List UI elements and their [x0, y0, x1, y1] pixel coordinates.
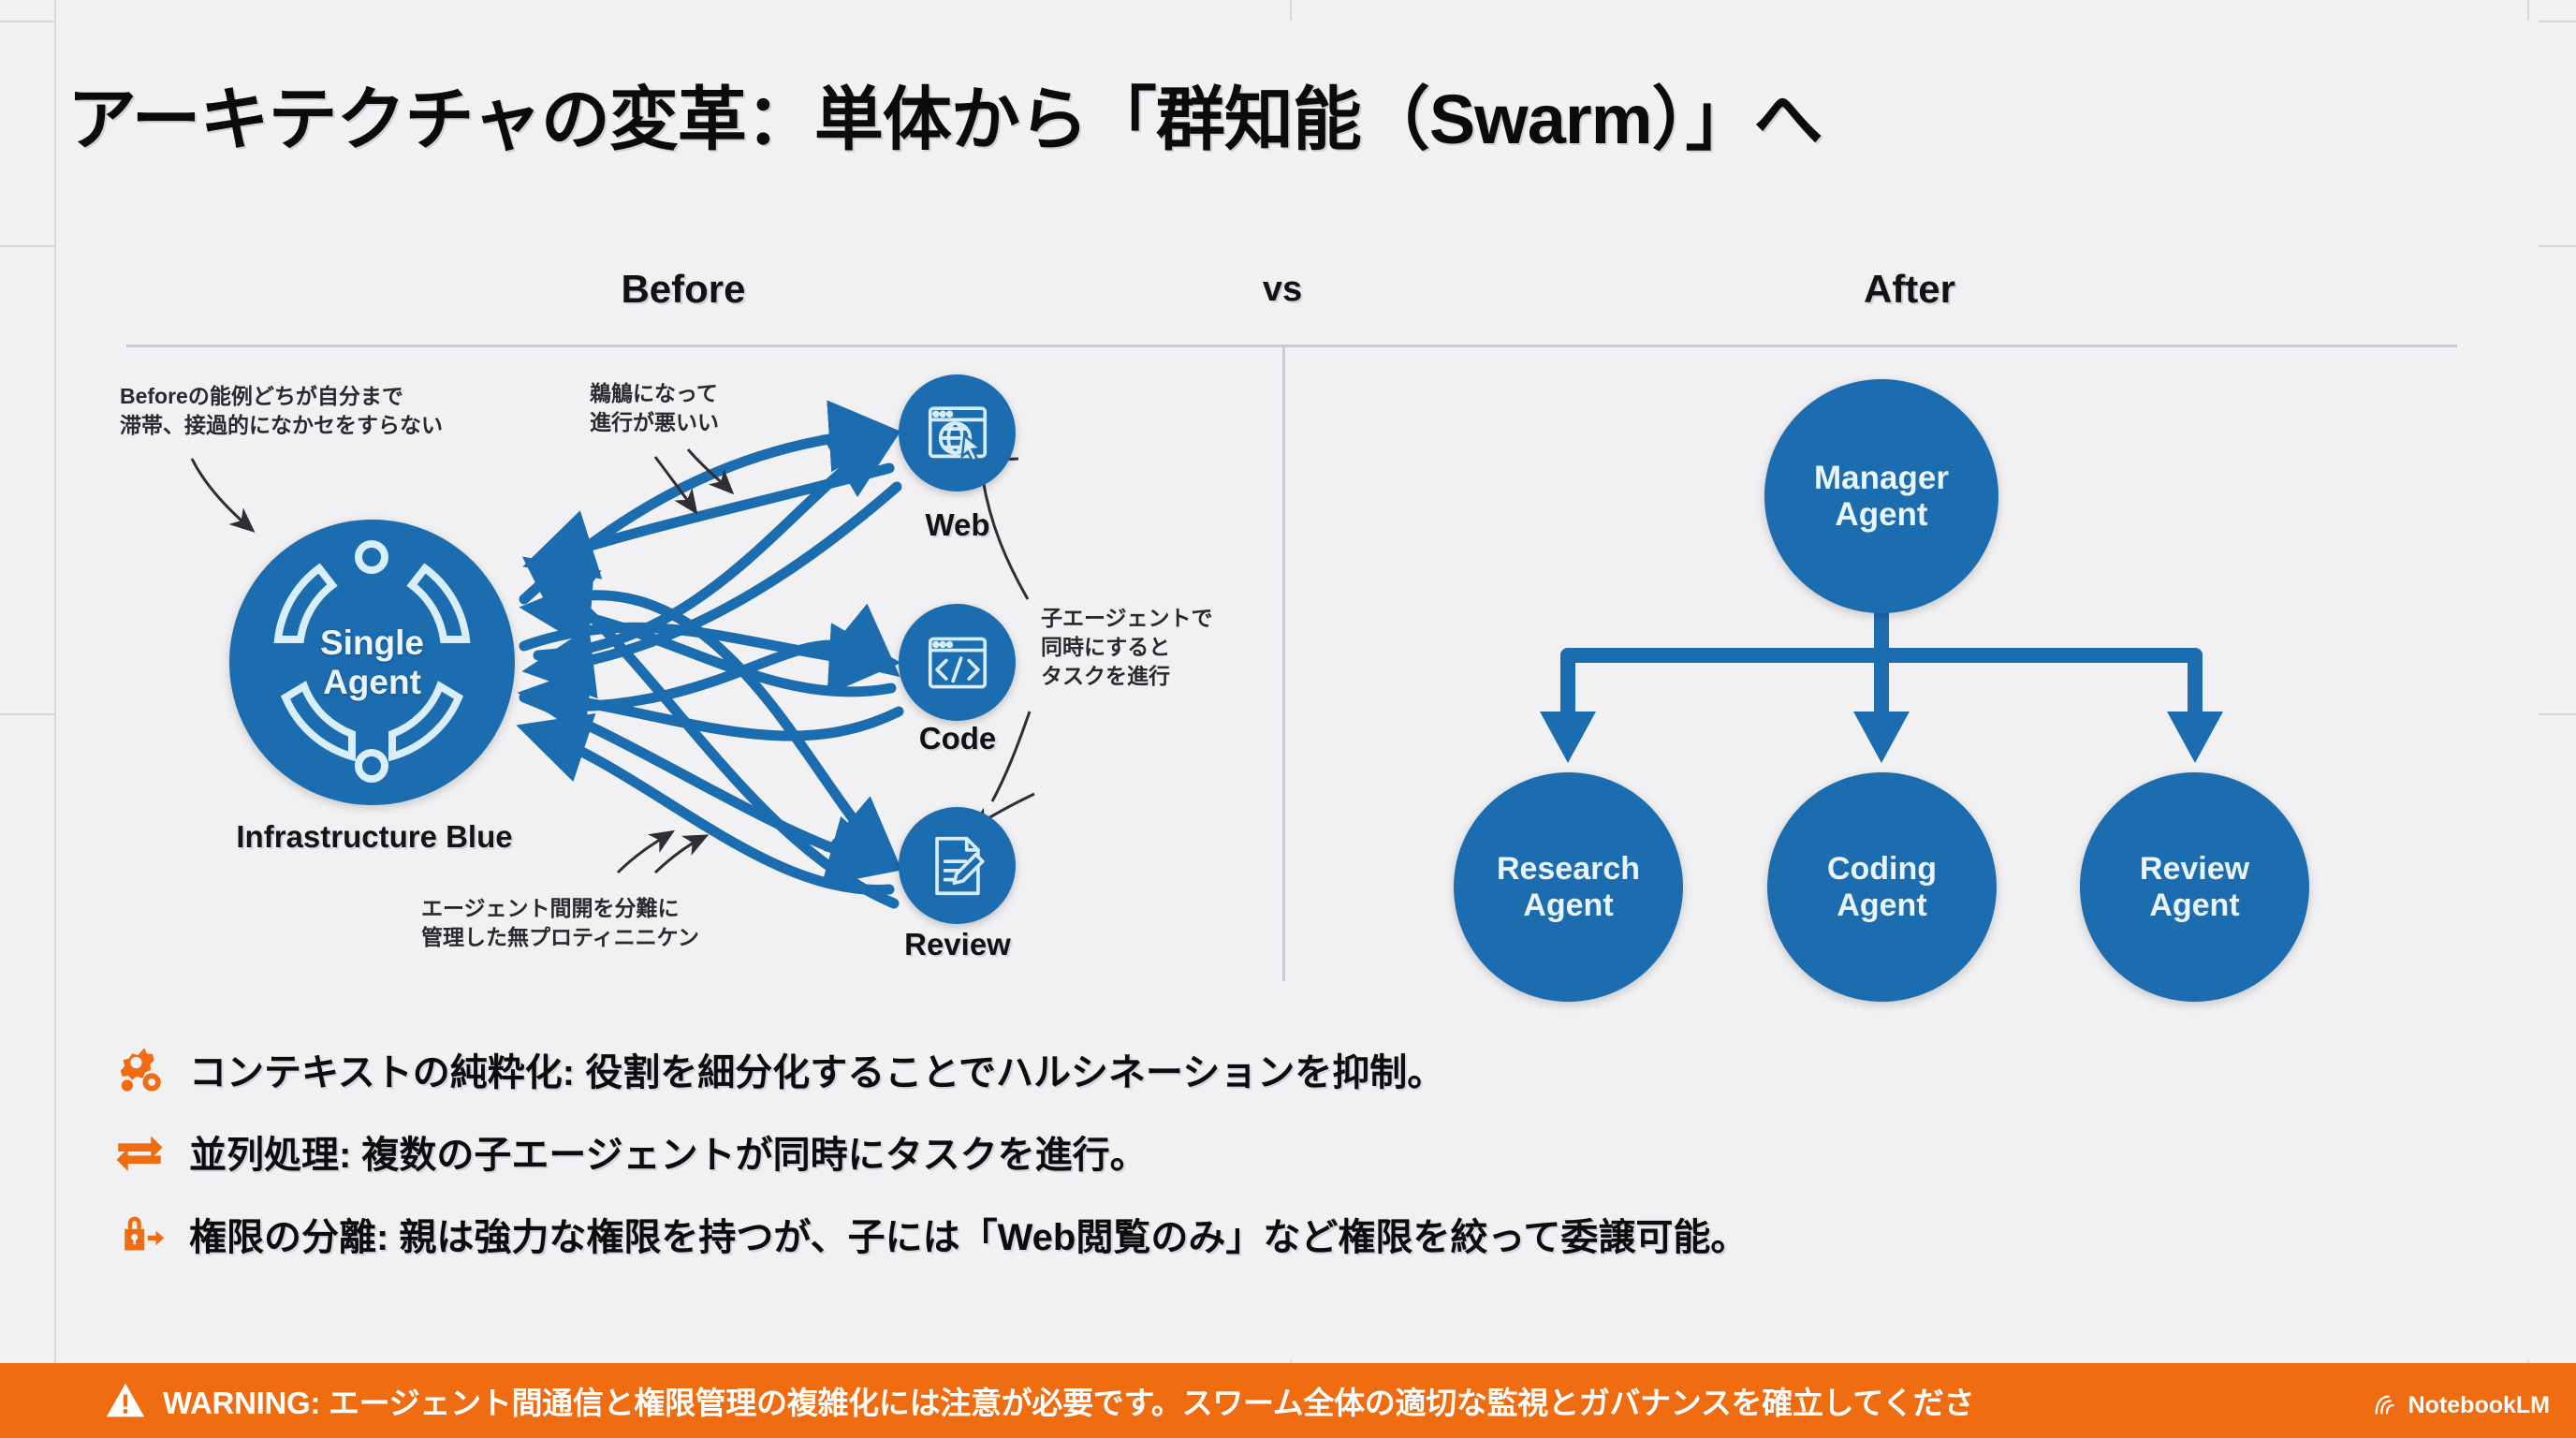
node-single-agent-line1: Single: [320, 624, 424, 662]
column-header-before: Before: [524, 267, 842, 312]
node-web[interactable]: [899, 374, 1016, 492]
code-window-icon: [921, 626, 994, 699]
node-coding-agent[interactable]: Coding Agent: [1767, 772, 1997, 1002]
list-item-text: 並列処理: 複数の子エージェントが同時にタスクを進行。: [189, 1124, 1148, 1179]
infrastructure-blue-label: Infrastructure Blue: [164, 819, 585, 855]
column-header-vs: vs: [1207, 270, 1357, 310]
page-title: アーキテクチャの変革：単体から「群知能（Swarm）」へ: [67, 64, 2445, 164]
list-item: コンテキストの純粋化: 役割を細分化することでハルシネーションを抑制。: [110, 1028, 2507, 1110]
annotation-line: タスクを進行: [1041, 662, 1294, 691]
annotation-line: 管理した無プロティニニケン: [421, 923, 796, 952]
list-item: 権限の分離: 親は強力な権限を持つが、子には「Web閲覧のみ」など権限を絞って委…: [110, 1193, 2507, 1275]
warning-triangle-icon: [105, 1380, 146, 1421]
node-research-agent-line1: Research: [1497, 851, 1640, 887]
node-code-caption: Code: [845, 721, 1070, 756]
notebooklm-brand: NotebookLM: [2372, 1391, 2550, 1419]
node-single-agent-line2: Agent: [323, 663, 421, 701]
node-research-agent[interactable]: Research Agent: [1454, 772, 1683, 1002]
annotation-slow-progress: 鵜鵤になって 進行が悪いい: [590, 379, 833, 437]
node-review[interactable]: [899, 807, 1016, 924]
node-review-agent-line1: Review: [2140, 851, 2249, 887]
annotation-line: エージェント間開を分難に: [421, 894, 796, 923]
node-single-agent[interactable]: Single Agent: [229, 520, 515, 805]
parallel-arrows-icon: [110, 1123, 168, 1181]
list-item-text: コンテキストの純粋化: 役割を細分化することでハルシネーションを抑制。: [189, 1042, 1444, 1096]
node-code[interactable]: [899, 604, 1016, 721]
node-coding-agent-line2: Agent: [1837, 888, 1926, 923]
gear-icon: [110, 1040, 168, 1098]
slide-root: アーキテクチャの変革：単体から「群知能（Swarm）」へ Before vs A…: [0, 0, 2576, 1438]
annotation-agent-communication: エージェント間開を分難に 管理した無プロティニニケン: [421, 894, 796, 952]
annotation-line: 進行が悪いい: [590, 408, 833, 437]
node-manager-agent-line1: Manager: [1814, 460, 1949, 496]
header-divider: [126, 345, 2457, 347]
node-review-agent[interactable]: Review Agent: [2080, 772, 2309, 1002]
annotation-line: 同時にすると: [1041, 633, 1294, 662]
lock-arrow-icon: [110, 1205, 168, 1263]
annotation-line: Beforeの能例どちが自分まで: [120, 382, 494, 411]
node-manager-agent[interactable]: Manager Agent: [1764, 379, 1998, 613]
benefit-list: コンテキストの純粋化: 役割を細分化することでハルシネーションを抑制。 並列処理…: [110, 1028, 2507, 1275]
annotation-before-overload: Beforeの能例どちが自分まで 滞帯、接過的になかセをすらない: [120, 382, 494, 440]
column-header-after: After: [1760, 267, 2059, 312]
list-item-text: 権限の分離: 親は強力な権限を持つが、子には「Web閲覧のみ」など権限を絞って委…: [189, 1207, 1748, 1261]
document-pencil-icon: [921, 829, 994, 902]
node-coding-agent-line1: Coding: [1827, 851, 1937, 887]
annotation-line: 子エージェントで: [1041, 604, 1294, 633]
node-manager-agent-line2: Agent: [1835, 496, 1927, 533]
warning-banner: WARNING: エージェント間通信と権限管理の複雑化には注意が必要です。スワー…: [0, 1363, 2576, 1438]
list-item: 並列処理: 複数の子エージェントが同時にタスクを進行。: [110, 1110, 2507, 1193]
annotation-child-agent-parallel: 子エージェントで 同時にすると タスクを進行: [1041, 604, 1294, 691]
annotation-line: 滞帯、接過的になかセをすらない: [120, 411, 494, 440]
node-web-caption: Web: [845, 507, 1070, 543]
notebooklm-label: NotebookLM: [2408, 1392, 2550, 1419]
annotation-line: 鵜鵤になって: [590, 379, 833, 408]
node-research-agent-line2: Agent: [1523, 888, 1613, 923]
warning-text: WARNING: エージェント間通信と権限管理の複雑化には注意が必要です。スワー…: [163, 1378, 1974, 1423]
web-browser-globe-icon: [921, 397, 994, 470]
node-review-caption: Review: [845, 927, 1070, 962]
notebooklm-icon: [2372, 1391, 2400, 1419]
node-review-agent-line2: Agent: [2149, 888, 2239, 923]
